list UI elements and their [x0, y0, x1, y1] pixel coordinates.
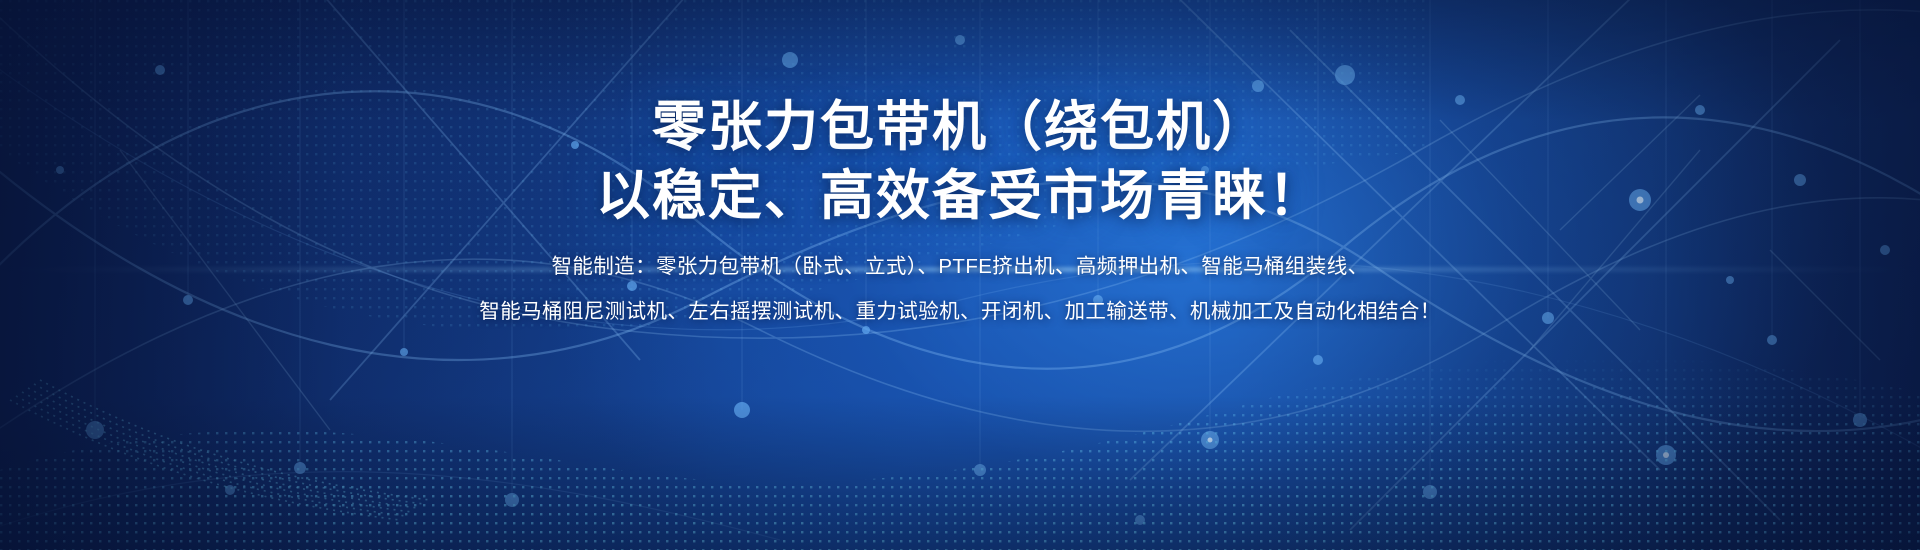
- promo-banner: 零张力包带机（绕包机） 以稳定、高效备受市场青睐！ 智能制造：零张力包带机（卧式…: [0, 0, 1920, 550]
- banner-headline-line-2: 以稳定、高效备受市场青睐！: [596, 165, 1324, 228]
- banner-headline-line-1: 零张力包带机（绕包机）: [652, 96, 1268, 159]
- banner-subtitle-line-1: 智能制造：零张力包带机（卧式、立式）、PTFE挤出机、高频押出机、智能马桶组装线…: [551, 257, 1368, 278]
- banner-content: 零张力包带机（绕包机） 以稳定、高效备受市场青睐！ 智能制造：零张力包带机（卧式…: [0, 0, 1920, 550]
- banner-subtitle-line-2: 智能马桶阻尼测试机、左右摇摆测试机、重力试验机、开闭机、加工输送带、机械加工及自…: [479, 302, 1440, 323]
